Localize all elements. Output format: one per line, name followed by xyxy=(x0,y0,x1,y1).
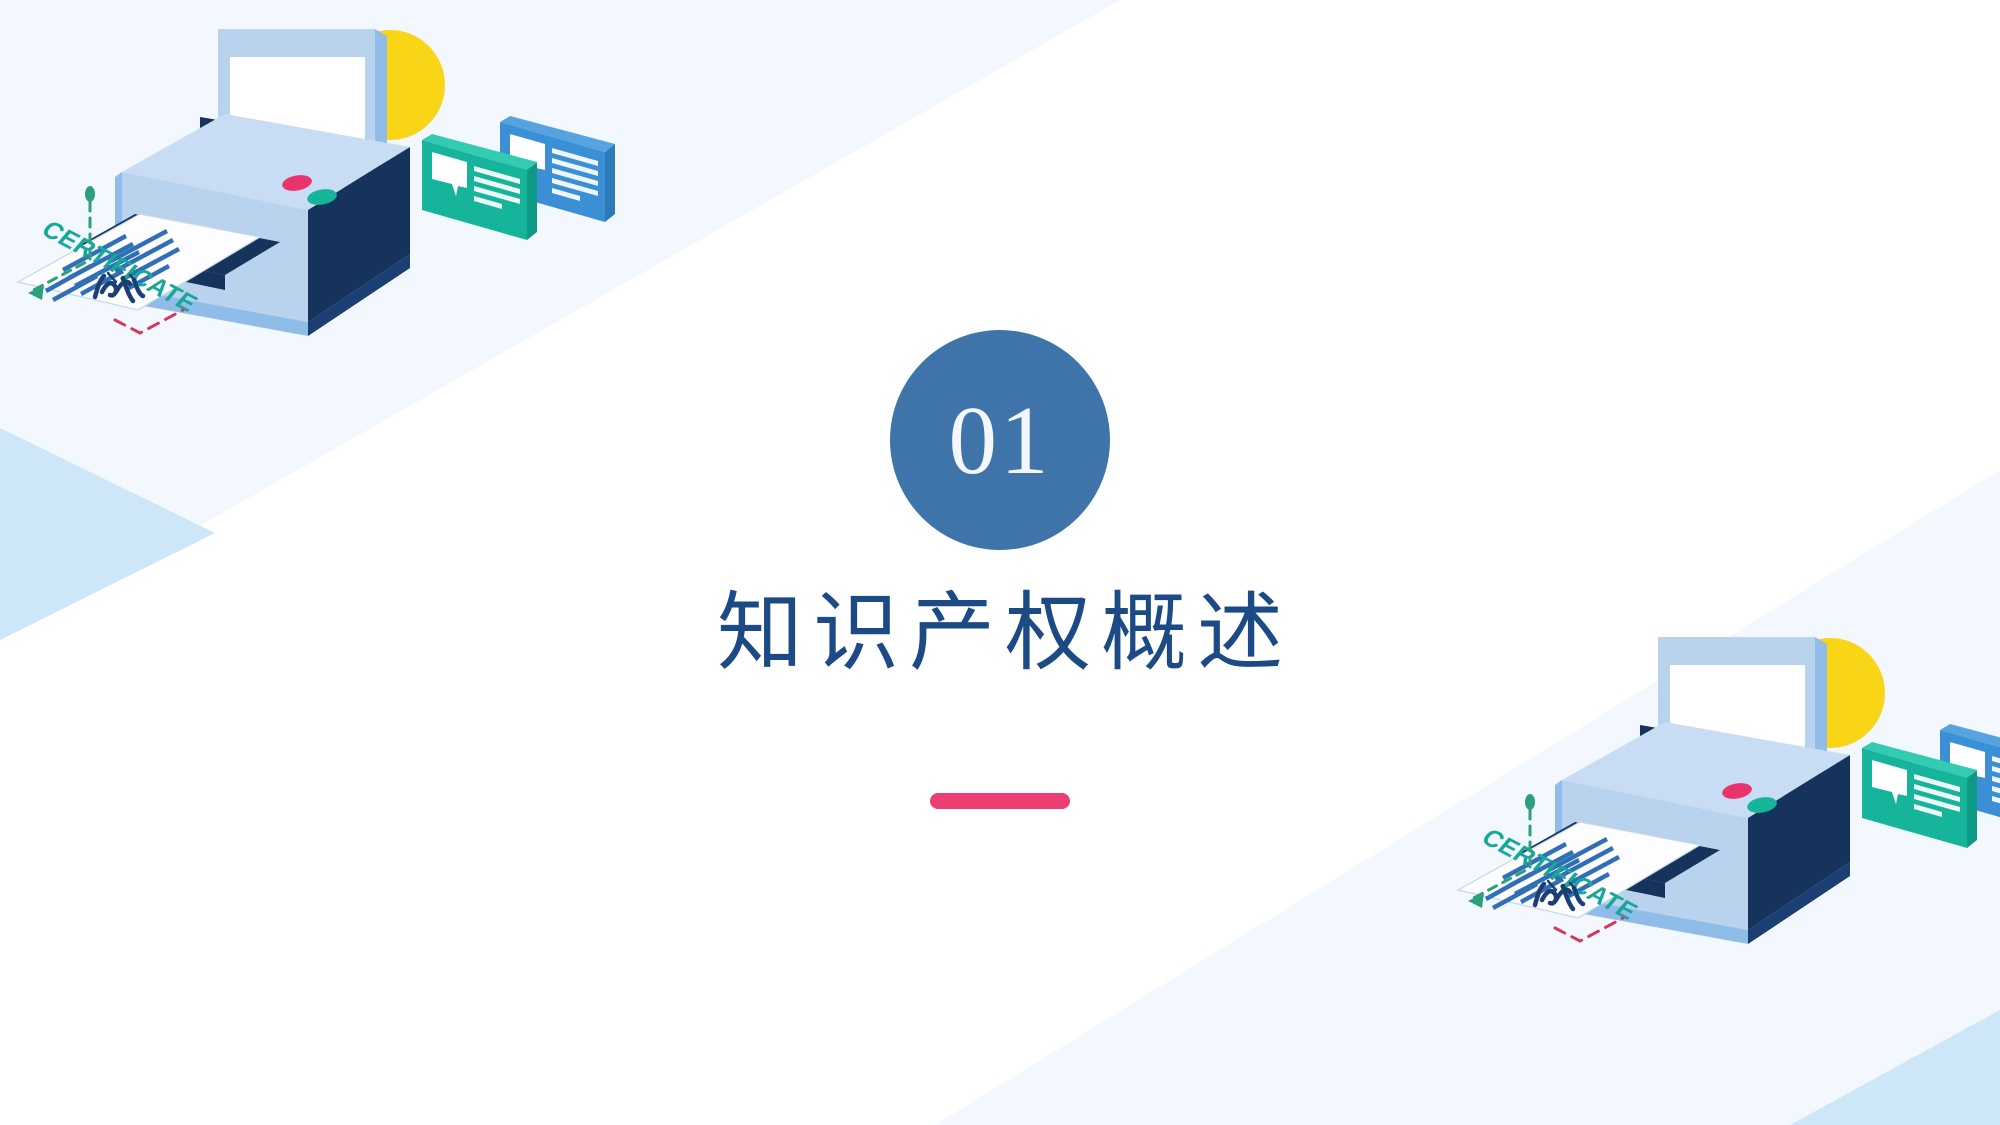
section-number: 01 xyxy=(949,392,1052,489)
illustration-printer-top-left[interactable]: CERTIFICATE xyxy=(0,0,670,432)
section-number-badge[interactable]: 01 xyxy=(890,330,1110,550)
slide-canvas: CERTIFICATE xyxy=(0,0,2000,1125)
pink-dashed-line xyxy=(115,310,183,333)
card-teal-side-2 xyxy=(1967,770,1977,848)
printer-certificate-scene: CERTIFICATE xyxy=(0,0,670,432)
green-arrow-tail-dot xyxy=(85,186,95,202)
card-blue-side xyxy=(605,144,615,222)
green-arrow-tail-dot-2 xyxy=(1525,794,1535,810)
pink-dashed-line-2 xyxy=(1555,918,1623,941)
page-title: 知识产权概述 xyxy=(0,584,2000,683)
title-underline-rule xyxy=(930,793,1070,809)
card-teal-side xyxy=(527,162,537,240)
